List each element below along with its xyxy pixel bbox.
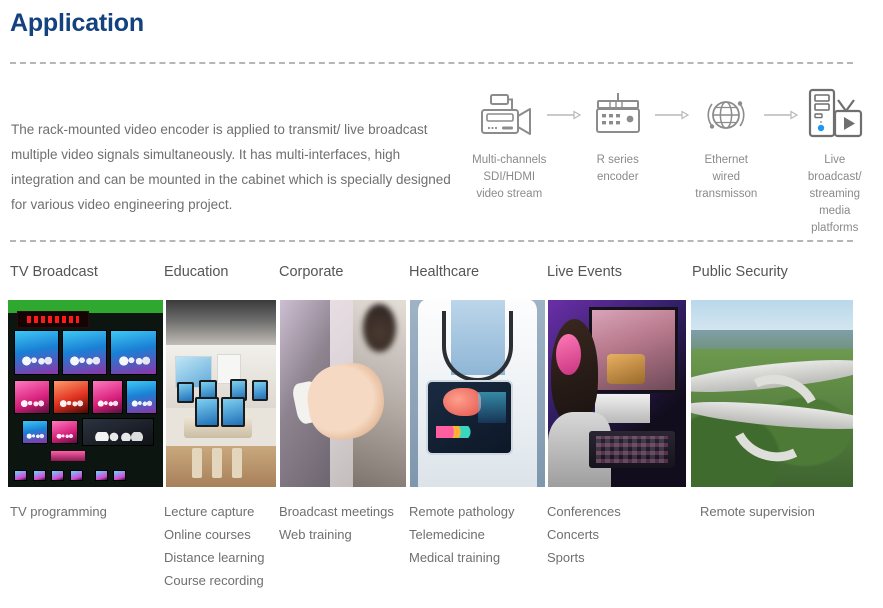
page-title: Application — [10, 9, 144, 38]
flow-label-line: Ethernet — [705, 154, 748, 166]
flow-label-video-source: Multi-channelsSDI/HDMIvideo stream — [472, 152, 546, 203]
flow-label-line: wired — [713, 171, 740, 183]
public-security-highway-photo — [691, 300, 853, 487]
flow-node-video-source: Multi-channelsSDI/HDMIvideo stream — [472, 84, 547, 203]
list-item: Remote pathology — [409, 500, 515, 523]
live-events-gaming-photo — [548, 300, 686, 487]
list-item: Lecture capture — [164, 500, 264, 523]
list-column-healthcare: Remote pathologyTelemedicineMedical trai… — [409, 500, 515, 569]
flow-label-platforms: Live broadcast/streaming mediaplatforms — [798, 152, 873, 237]
flow-node-network: Ethernetwiredtransmisson — [689, 84, 764, 203]
list-item: Sports — [547, 546, 621, 569]
category-photo-strip — [0, 300, 883, 487]
flow-label-line: Multi-channels — [472, 154, 546, 166]
flow-label-line: Live broadcast/ — [808, 154, 862, 183]
flow-label-line: encoder — [597, 171, 639, 183]
flow-arrow-1 — [547, 84, 581, 146]
category-headers: TV Broadcast Education Corporate Healthc… — [0, 264, 883, 290]
list-column-tv-broadcast: TV programming — [10, 500, 107, 523]
list-item: Remote supervision — [700, 500, 815, 523]
category-header-public-security: Public Security — [692, 264, 788, 280]
list-column-corporate: Broadcast meetingsWeb training — [279, 500, 394, 546]
list-item: Web training — [279, 523, 394, 546]
list-column-public-security: Remote supervision — [700, 500, 815, 523]
list-column-live-events: ConferencesConcertsSports — [547, 500, 621, 569]
category-item-lists: TV programming Lecture captureOnline cou… — [0, 500, 883, 608]
flow-arrow-2 — [655, 84, 689, 146]
encoder-device-icon — [590, 84, 646, 146]
list-item: Telemedicine — [409, 523, 515, 546]
flow-label-encoder: R seriesencoder — [597, 152, 639, 186]
flow-label-line: transmisson — [695, 188, 757, 200]
list-item: Online courses — [164, 523, 264, 546]
divider-middle — [10, 240, 853, 242]
flow-label-line: R series — [597, 154, 639, 166]
list-column-education: Lecture captureOnline coursesDistance le… — [164, 500, 264, 592]
list-item: Conferences — [547, 500, 621, 523]
category-header-live-events: Live Events — [547, 264, 622, 280]
list-item: TV programming — [10, 500, 107, 523]
list-item: Medical training — [409, 546, 515, 569]
category-header-tv-broadcast: TV Broadcast — [10, 264, 98, 280]
category-header-corporate: Corporate — [279, 264, 343, 280]
divider-top — [10, 62, 853, 64]
intro-paragraph: The rack-mounted video encoder is applie… — [11, 117, 451, 217]
flow-node-encoder: R seriesencoder — [581, 84, 656, 186]
tv-broadcast-control-room-photo — [8, 300, 163, 487]
list-item: Concerts — [547, 523, 621, 546]
flow-label-line: platforms — [811, 222, 858, 234]
education-classroom-photo — [166, 300, 276, 487]
application-flow-diagram: Multi-channelsSDI/HDMIvideo stream — [472, 84, 872, 209]
category-header-education: Education — [164, 264, 229, 280]
flow-arrow-3 — [764, 84, 798, 146]
flow-label-line: video stream — [476, 188, 542, 200]
flow-node-platforms: Live broadcast/streaming mediaplatforms — [798, 84, 873, 237]
video-camera-icon — [478, 84, 540, 146]
flow-label-line: streaming media — [810, 188, 861, 217]
healthcare-doctor-tablet-photo — [410, 300, 545, 487]
server-broadcast-icon — [804, 84, 866, 146]
list-item: Distance learning — [164, 546, 264, 569]
list-item: Broadcast meetings — [279, 500, 394, 523]
flow-label-line: SDI/HDMI — [483, 171, 535, 183]
category-header-healthcare: Healthcare — [409, 264, 479, 280]
list-item: Course recording — [164, 569, 264, 592]
flow-label-network: Ethernetwiredtransmisson — [695, 152, 757, 203]
globe-network-icon — [700, 84, 752, 146]
corporate-handshake-photo — [280, 300, 406, 487]
